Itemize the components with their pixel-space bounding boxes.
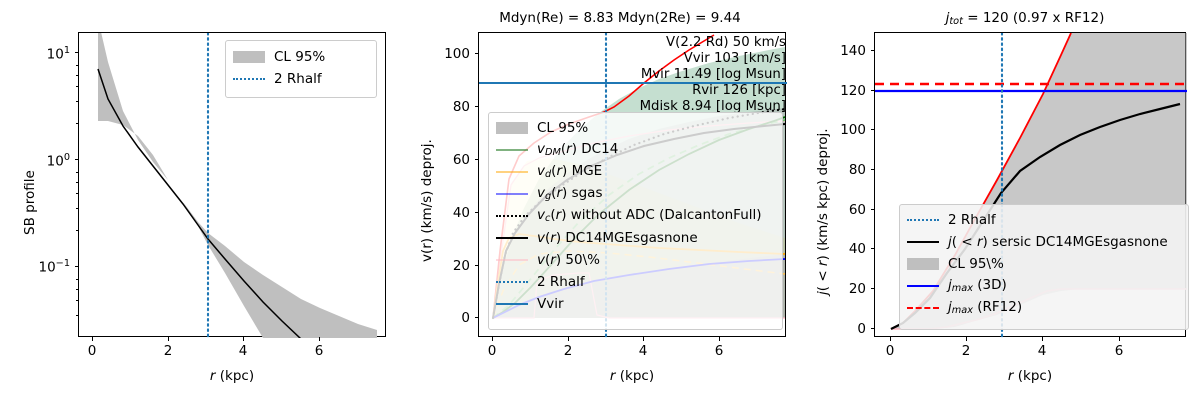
- panel3-xtick-4: 4: [1022, 343, 1062, 359]
- blue-line-icon: [495, 185, 529, 203]
- legend-label-2rhalf: 2 Rhalf: [948, 212, 996, 228]
- panel2-ytick-0: 0: [428, 310, 470, 326]
- legend-item-2rhalf[interactable]: 2 Rhalf: [906, 209, 1182, 231]
- panel1-xtick-4: 4: [223, 343, 263, 359]
- panel2-ytick-20: 20: [428, 258, 470, 274]
- panel2-xtick-2-mark: [568, 337, 569, 341]
- legend-label-cl95: CL 95%: [274, 49, 325, 65]
- legend-item-vmedian[interactable]: v(r) DC14MGEsgasnone: [495, 227, 776, 249]
- green-line-icon: [495, 141, 529, 159]
- panel2-xtick-6-mark: [719, 337, 720, 341]
- panel3-xtick-0: 0: [870, 343, 910, 359]
- panel3-ytick-60: 60: [816, 202, 866, 218]
- legend-label-2rhalf: 2 Rhalf: [274, 71, 322, 87]
- legend-item-vc[interactable]: vc(r) without ADC (DalcantonFull): [495, 205, 776, 227]
- black-line-icon: [906, 233, 940, 251]
- red-dashed-line-icon: [906, 299, 940, 317]
- panel3-xtick-2: 2: [946, 343, 986, 359]
- panel3-xtick-6: 6: [1099, 343, 1139, 359]
- legend-label-vc: vc(r) without ADC (DalcantonFull): [537, 207, 762, 224]
- panel2-legend[interactable]: CL 95% vDM(r) DC14 vd(r) MGE vg(r) sgas …: [488, 112, 783, 330]
- legend-label-2rhalf: 2 Rhalf: [537, 274, 585, 290]
- panel-sb-profile: SB profile 101 100 10−1: [0, 0, 400, 400]
- figure-root: SB profile 101 100 10−1: [0, 0, 1200, 400]
- panel1-y-axis-label: SB profile: [22, 170, 38, 235]
- panel-angular-momentum: jtot = 120 (0.97 x RF12) j( < r) (km/s k…: [800, 0, 1200, 400]
- legend-label-jmax3d: jmax (3D): [948, 277, 1007, 294]
- vvir-line-icon: [495, 295, 529, 313]
- panel3-xtick-4-mark: [1042, 337, 1043, 341]
- legend-label-jmaxrf12: jmax (RF12): [948, 299, 1022, 316]
- dotted-line-icon: [906, 211, 940, 229]
- panel3-x-axis-label: r (kpc): [950, 368, 1110, 384]
- panel2-xtick-4: 4: [623, 343, 663, 359]
- panel3-legend[interactable]: 2 Rhalf j( < r) sersic DC14MGEsgasnone C…: [899, 204, 1189, 330]
- dotted-line-icon: [495, 273, 529, 291]
- panel3-ytick-80: 80: [816, 162, 866, 178]
- legend-label-vvir: Vvir: [537, 296, 564, 312]
- legend-item-cl95[interactable]: CL 95%: [495, 117, 776, 139]
- panel2-annot-rvir: Rvir 126 [kpc]: [586, 83, 786, 98]
- panel3-ytick-120: 120: [808, 83, 866, 99]
- legend-item-vg[interactable]: vg(r) sgas: [495, 183, 776, 205]
- panel2-xtick-2: 2: [548, 343, 588, 359]
- legend-item-2rhalf[interactable]: 2 Rhalf: [232, 68, 370, 90]
- panel1-xtick-0-mark: [92, 337, 93, 341]
- panel2-xtick-0-mark: [492, 337, 493, 341]
- black-dotted-line-icon: [495, 207, 529, 225]
- panel2-ytick-60: 60: [428, 152, 470, 168]
- legend-item-vdm[interactable]: vDM(r) DC14: [495, 139, 776, 161]
- orange-line-icon: [495, 163, 529, 181]
- legend-item-jr[interactable]: j( < r) sersic DC14MGEsgasnone: [906, 231, 1182, 253]
- panel1-xtick-4-mark: [243, 337, 244, 341]
- legend-label-vg: vg(r) sgas: [537, 185, 602, 202]
- panel2-annot-vvir: Vvir 103 [km/s]: [586, 51, 786, 66]
- cl95-patch-icon: [495, 119, 529, 137]
- blue-line-icon: [906, 277, 940, 295]
- legend-label-cl95: CL 95\%: [948, 256, 1004, 272]
- legend-label-cl95: CL 95%: [537, 120, 588, 136]
- panel2-ytick-80: 80: [428, 99, 470, 115]
- legend-item-jmax3d[interactable]: jmax (3D): [906, 275, 1182, 297]
- panel3-ytick-0: 0: [816, 321, 866, 337]
- panel3-xtick-0-mark: [890, 337, 891, 341]
- panel2-annot-mvir: Mvir 11.49 [log Msun]: [586, 67, 786, 82]
- panel1-xtick-6: 6: [299, 343, 339, 359]
- legend-label-vdm: vDM(r) DC14: [537, 141, 618, 158]
- legend-item-vvir[interactable]: Vvir: [495, 293, 776, 315]
- panel3-xtick-6-mark: [1119, 337, 1120, 341]
- legend-item-vd[interactable]: vd(r) MGE: [495, 161, 776, 183]
- panel2-title: Mdyn(Re) = 8.83 Mdyn(2Re) = 9.44: [470, 10, 770, 26]
- legend-label-vd: vd(r) MGE: [537, 163, 602, 180]
- panel2-xtick-0: 0: [472, 343, 512, 359]
- black-line-icon: [495, 229, 529, 247]
- panel2-xtick-4-mark: [643, 337, 644, 341]
- panel3-ytick-20: 20: [816, 281, 866, 297]
- panel1-x-axis-label: r (kpc): [152, 368, 312, 384]
- cl95-patch-icon: [232, 48, 266, 66]
- panel1-ytick-1e1: 101: [18, 45, 70, 63]
- panel3-ytick-40: 40: [816, 241, 866, 257]
- panel2-ytick-100: 100: [420, 46, 470, 62]
- panel1-xtick-6-mark: [319, 337, 320, 341]
- panel2-annot-v22rd: V(2.2 Rd) 50 km/s: [586, 35, 786, 50]
- legend-item-cl95[interactable]: CL 95%: [232, 46, 370, 68]
- pink-line-icon: [495, 251, 529, 269]
- panel3-xtick-2-mark: [966, 337, 967, 341]
- legend-item-cl95[interactable]: CL 95\%: [906, 253, 1182, 275]
- panel1-ytick-1e-1: 10−1: [12, 258, 70, 276]
- legend-label-vmedian: v(r) DC14MGEsgasnone: [537, 230, 698, 246]
- panel2-xtick-6: 6: [699, 343, 739, 359]
- panel1-ytick-1e0: 100: [18, 152, 70, 170]
- panel3-title: jtot = 120 (0.97 x RF12): [880, 10, 1170, 27]
- panel1-xtick-2: 2: [148, 343, 188, 359]
- panel1-legend[interactable]: CL 95% 2 Rhalf: [225, 40, 377, 98]
- legend-item-v50[interactable]: v(r) 50\%: [495, 249, 776, 271]
- panel1-xtick-2-mark: [168, 337, 169, 341]
- panel-rotation-curve: Mdyn(Re) = 8.83 Mdyn(2Re) = 9.44 v(r) (k…: [400, 0, 800, 400]
- panel1-xtick-0: 0: [72, 343, 112, 359]
- panel2-ytick-40: 40: [428, 205, 470, 221]
- legend-item-2rhalf[interactable]: 2 Rhalf: [495, 271, 776, 293]
- legend-label-v50: v(r) 50\%: [537, 252, 600, 268]
- dotted-line-icon: [232, 70, 266, 88]
- panel3-ytick-140: 140: [808, 43, 866, 59]
- panel2-x-axis-label: r (kpc): [552, 368, 712, 384]
- legend-item-jmaxrf12[interactable]: jmax (RF12): [906, 297, 1182, 319]
- cl95-patch-icon: [906, 255, 940, 273]
- legend-label-jr: j( < r) sersic DC14MGEsgasnone: [948, 234, 1168, 250]
- panel3-ytick-100: 100: [808, 122, 866, 138]
